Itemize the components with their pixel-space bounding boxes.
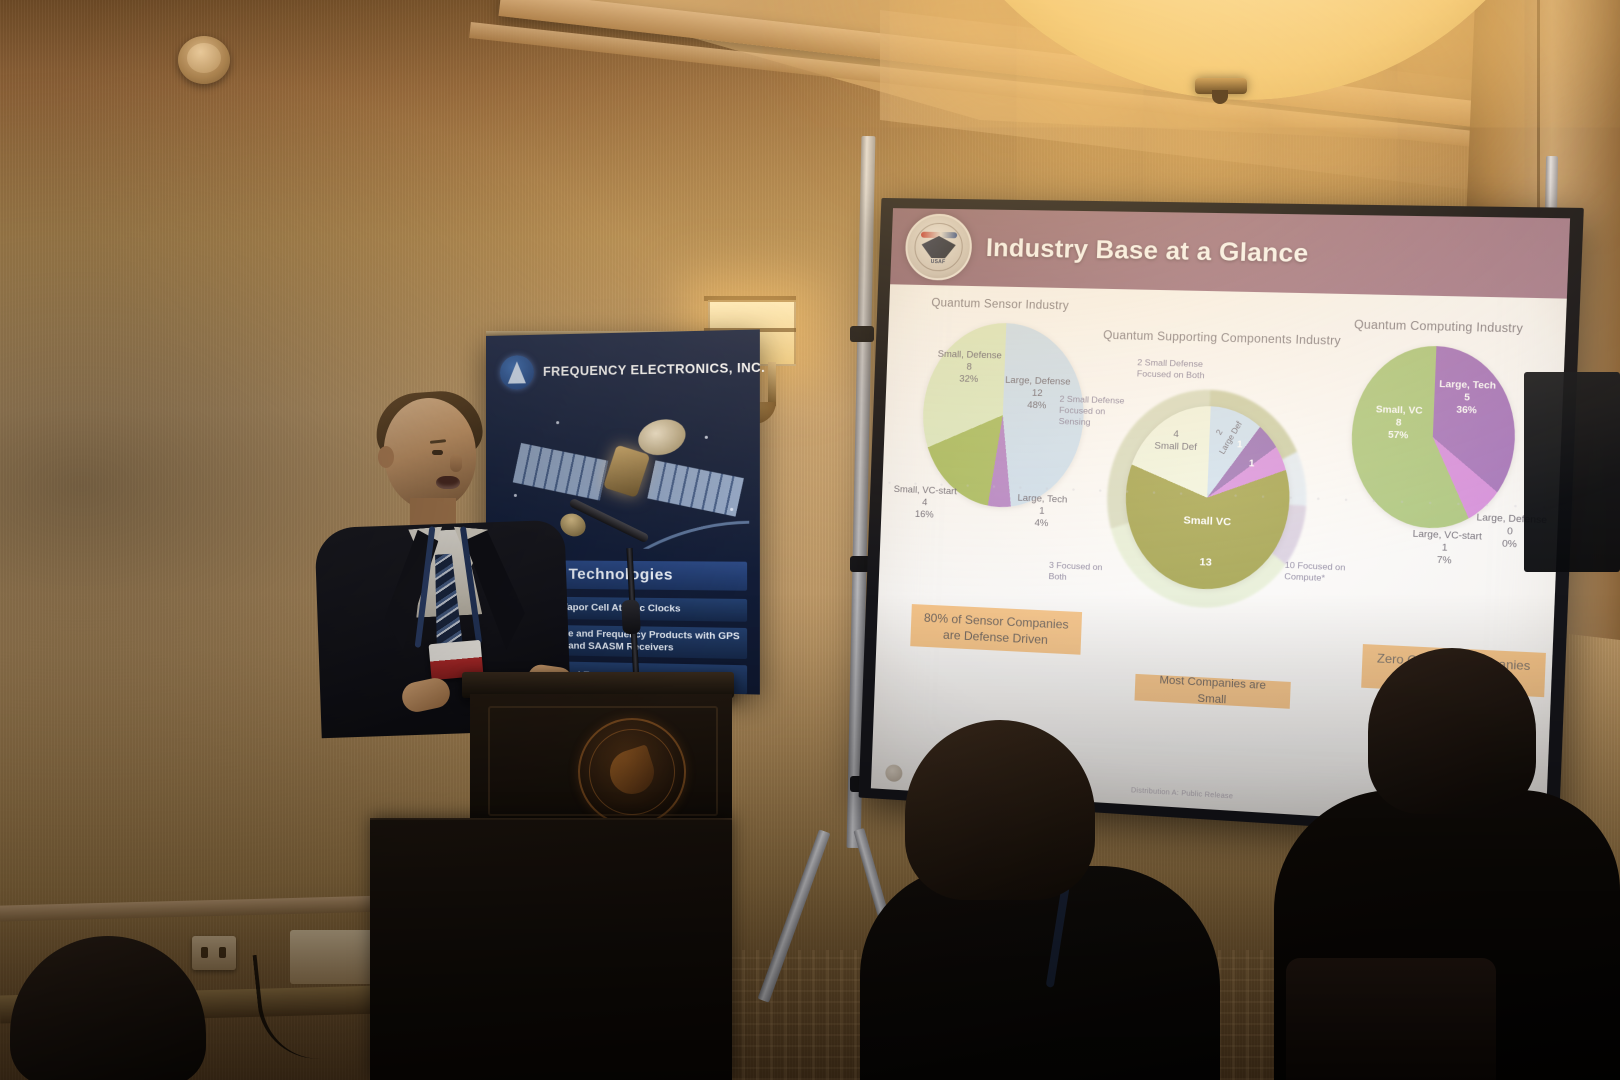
photo-vignette: [0, 0, 1620, 1080]
conference-room-photo: FREQUENCY ELECTRONICS, INC. Technologies…: [0, 0, 1620, 1080]
